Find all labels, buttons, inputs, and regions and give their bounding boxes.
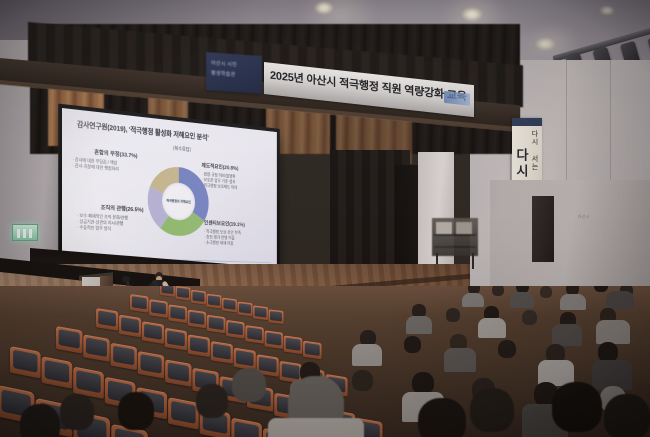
blue-sign-line2: 평생학습관 [211,70,259,81]
audience-member [540,286,552,298]
seat [284,335,303,354]
audience-body [510,292,534,308]
seat [231,418,262,437]
seat [211,341,233,364]
audience-member [594,286,608,292]
audience-member-foreground [20,404,60,437]
seat [245,325,264,344]
audience-member [412,372,434,394]
side-door [532,196,554,262]
exit-sign [12,224,38,241]
seat [265,330,284,349]
audio-equipment-box [436,222,452,234]
seat [56,326,82,354]
proscenium-blue-sign: 아산시 시민 평생학습관 [206,52,262,94]
audience-member [404,336,421,353]
audience-body [552,324,582,346]
auditorium-seating-area [0,286,650,437]
seat [119,315,141,338]
cart-leg [472,253,474,269]
seat [149,299,168,318]
seat [83,334,109,362]
audience-body [606,291,634,309]
seat [165,359,191,387]
seat [168,397,199,429]
seat [168,304,187,323]
audience-member [498,340,516,358]
audience-member-foreground [604,394,650,437]
seat [207,315,226,334]
audience-member [352,370,373,391]
audience-body [560,294,586,310]
asan-city-logo-icon [444,91,470,106]
auditorium-photo-scene: 아산시 시민 평생학습관 2025년 아산시 적극행정 직원 역량강화 교육 다… [0,0,650,437]
presentation-slide: 감사연구원(2019), '적극행정 활성화 저해요인 분석' (복수응답) 적… [62,108,277,277]
audience-body [478,318,506,338]
donut-center-text: 적극행정의 저해요인 [166,198,191,204]
seat [207,294,222,309]
audience-member-foreground [552,382,602,432]
audio-equipment-box [456,222,472,234]
seat [176,286,191,301]
audience-member-foreground [418,398,466,437]
seat [138,351,164,379]
slide-block-bottom-left: 조직의 관행(26.5%) · 보수·폐쇄적인 조직 문화/관행 · 상급기관·… [77,203,165,235]
seat [165,328,187,351]
audience-member [492,286,504,296]
audience-body [462,293,484,307]
seat [160,286,175,297]
slide-block-top-right: 제도적요인(20.8%) · 법령·규정 미비/불명확 · 모호한 업무 기준·… [202,162,273,193]
audience-member [446,308,460,322]
seat [10,346,41,378]
wall-text: 아산시 [578,214,590,220]
seat [188,310,207,329]
audience-member-foreground [232,368,266,402]
seat [234,348,256,371]
audience-body [406,316,432,334]
seat [130,294,149,313]
audience-member-foreground [470,388,514,432]
projection-screen: 감사연구원(2019), '적극행정 활성화 저해요인 분석' (복수응답) 적… [62,108,277,277]
audience-body [444,348,476,372]
rear-wall [490,180,650,290]
slide-block-bottom-right: 인센티브요인(19.1%) · 적극행정 보상·유인 부족 · 승진·평가 반영… [204,220,273,249]
seat [269,309,284,324]
seat [253,305,268,320]
audience-member-foreground [60,394,94,430]
audience-member-foreground [196,384,228,418]
audience-body-foreground [268,418,364,437]
slide-subtitle: (복수응답) [148,142,214,155]
seat [303,341,322,360]
audience-body [352,344,382,366]
seat [188,334,210,357]
seat [111,343,137,371]
banner-top-bar [512,118,542,126]
seat [222,298,237,313]
seat [238,302,253,317]
exit-sign-glyph [17,229,35,238]
audience-member-foreground [118,392,154,430]
slide-block-top-left: 혼합의 무정(33.7%) · 감사에 대한 부담감 / 책임 · 감사·처분에… [72,147,157,176]
audience-member [598,342,618,362]
seat [96,308,118,331]
seat [42,356,73,388]
seat [226,320,245,339]
audience-member [522,310,537,325]
seat [142,321,164,344]
audience-body [596,320,630,344]
seat [191,290,206,305]
